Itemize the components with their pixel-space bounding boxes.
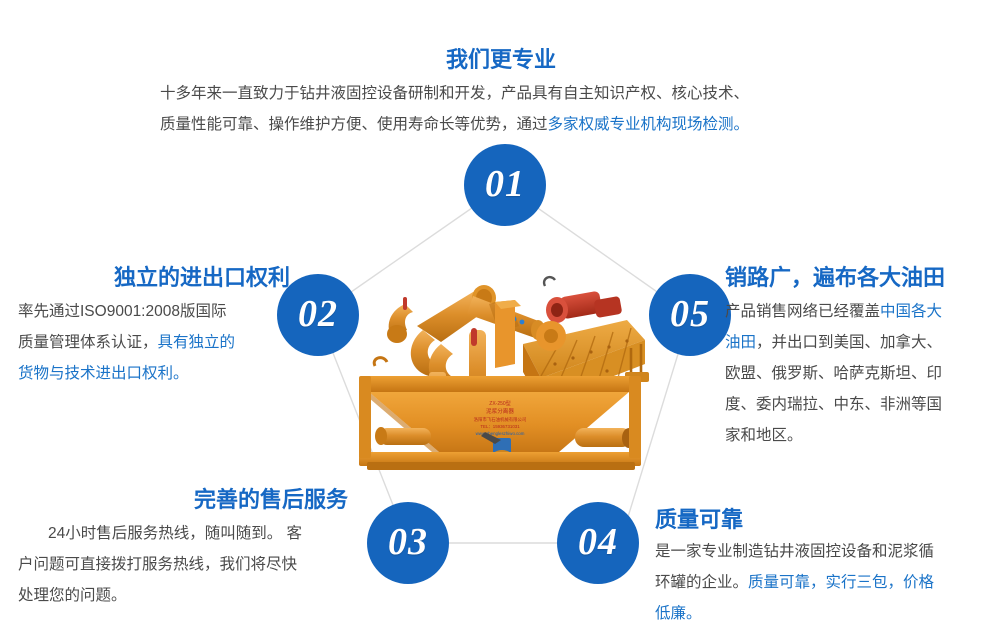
feature-01-line-2: 质量性能可靠、操作维护方便、使用寿命长等优势，通过多家权威专业机构现场检测。 <box>160 109 842 140</box>
feature-block-05: 销路广，遍布各大油田 产品销售网络已经覆盖中国各大 油田，并出口到美国、加拿大、… <box>725 264 993 451</box>
feature-05-line-2-highlight: 油田 <box>725 334 756 351</box>
feature-02-line-2-highlight: 具有独立的 <box>158 334 236 351</box>
feature-05-line-1-highlight: 中国各大 <box>880 303 942 320</box>
badge-01-label: 01 <box>485 162 525 206</box>
feature-05-line-1: 产品销售网络已经覆盖中国各大 <box>725 296 993 327</box>
feature-05-line-2-plain: ，并出口到美国、加拿大、 <box>756 334 942 351</box>
feature-04-line-2-plain: 环罐的企业。 <box>655 574 748 591</box>
feature-01-body: 十多年来一直致力于钻井液固控设备研制和开发，产品具有自主知识产权、核心技术、 质… <box>160 78 842 140</box>
feature-01-line-2-highlight: 多家权威专业机构现场检测。 <box>548 116 750 133</box>
svg-text:ZX-250型: ZX-250型 <box>489 400 510 407</box>
feature-block-03: 完善的售后服务 24小时售后服务热线，随叫随到。 客 户问题可直接拨打服务热线，… <box>18 486 348 611</box>
feature-02-line-3: 货物与技术进出口权利。 <box>18 358 290 389</box>
feature-03-line-2: 户问题可直接拨打服务热线，我们将尽快 <box>18 549 348 580</box>
feature-05-line-2: 油田，并出口到美国、加拿大、 <box>725 327 993 358</box>
feature-05-body: 产品销售网络已经覆盖中国各大 油田，并出口到美国、加拿大、 欧盟、俄罗斯、哈萨克… <box>725 296 993 451</box>
feature-infographic-page: ZX-250型 泥浆分离器 洛阳市飞石油机械有限公司 TEL：159367310… <box>0 0 1000 642</box>
feature-02-line-2: 质量管理体系认证，具有独立的 <box>18 327 290 358</box>
feature-05-line-5: 家和地区。 <box>725 420 993 451</box>
right-outlet-pipe <box>575 428 636 448</box>
feature-block-01: 我们更专业 十多年来一直致力于钻井液固控设备研制和开发，产品具有自主知识产权、核… <box>160 46 842 140</box>
feature-05-line-1-plain: 产品销售网络已经覆盖 <box>725 303 880 320</box>
badge-05-label: 05 <box>670 292 710 336</box>
badge-02-label: 02 <box>298 292 338 336</box>
feature-03-line-3: 处理您的问题。 <box>18 580 348 611</box>
feature-04-line-2: 环罐的企业。质量可靠，实行三包，价格 <box>655 567 991 598</box>
badge-01[interactable]: 01 <box>464 144 546 226</box>
feature-05-line-4: 度、委内瑞拉、中东、非洲等国 <box>725 389 993 420</box>
badge-03[interactable]: 03 <box>367 502 449 584</box>
feature-01-heading: 我们更专业 <box>160 46 842 74</box>
feature-block-02: 独立的进出口权利 率先通过ISO9001:2008版国际 质量管理体系认证，具有… <box>18 264 290 389</box>
feature-03-heading: 完善的售后服务 <box>18 486 348 514</box>
feature-02-line-2-plain: 质量管理体系认证， <box>18 334 158 351</box>
badge-03-label: 03 <box>388 520 428 564</box>
feature-04-line-3: 低廉。 <box>655 598 991 629</box>
feature-01-line-1: 十多年来一直致力于钻井液固控设备研制和开发，产品具有自主知识产权、核心技术、 <box>160 78 842 109</box>
feature-02-heading: 独立的进出口权利 <box>18 264 290 292</box>
feature-04-heading: 质量可靠 <box>655 506 991 534</box>
feature-05-line-3: 欧盟、俄罗斯、哈萨克斯坦、印 <box>725 358 993 389</box>
feature-02-body: 率先通过ISO9001:2008版国际 质量管理体系认证，具有独立的 货物与技术… <box>18 296 290 389</box>
feature-02-line-1: 率先通过ISO9001:2008版国际 <box>18 296 290 327</box>
feature-03-body: 24小时售后服务热线，随叫随到。 客 户问题可直接拨打服务热线，我们将尽快 处理… <box>18 518 348 611</box>
svg-text:泥浆分离器: 泥浆分离器 <box>486 407 514 415</box>
left-outlet-pipe <box>375 427 431 445</box>
badge-05[interactable]: 05 <box>649 274 731 356</box>
feature-04-body: 是一家专业制造钻井液固控设备和泥浆循 环罐的企业。质量可靠，实行三包，价格 低廉… <box>655 536 991 629</box>
feature-04-line-1: 是一家专业制造钻井液固控设备和泥浆循 <box>655 536 991 567</box>
svg-text:TEL：15936731031: TEL：15936731031 <box>480 424 520 429</box>
feature-04-line-2-highlight: 质量可靠，实行三包，价格 <box>748 574 934 591</box>
badge-04-label: 04 <box>578 520 618 564</box>
feature-03-line-1: 24小时售后服务热线，随叫随到。 客 <box>18 518 348 549</box>
feature-05-heading: 销路广，遍布各大油田 <box>725 264 993 292</box>
product-image: ZX-250型 泥浆分离器 洛阳市飞石油机械有限公司 TEL：159367310… <box>345 252 655 484</box>
feature-01-line-2-plain: 质量性能可靠、操作维护方便、使用寿命长等优势，通过 <box>160 116 548 133</box>
feature-block-04: 质量可靠 是一家专业制造钻井液固控设备和泥浆循 环罐的企业。质量可靠，实行三包，… <box>655 506 991 629</box>
badge-04[interactable]: 04 <box>557 502 639 584</box>
svg-text:洛阳市飞石油机械有限公司: 洛阳市飞石油机械有限公司 <box>474 416 527 423</box>
